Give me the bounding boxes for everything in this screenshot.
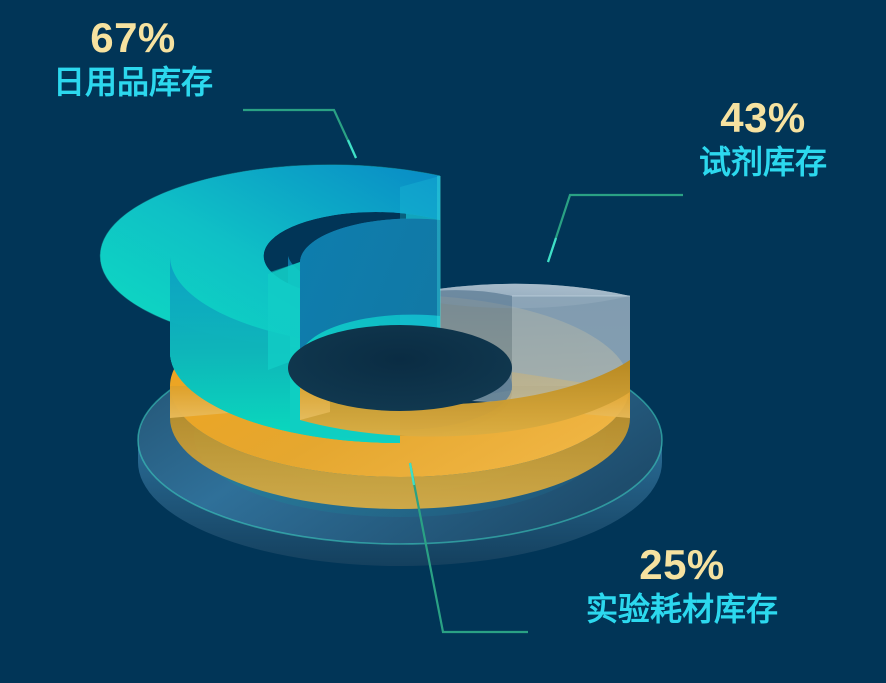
chart-canvas: 67% 日用品库存 43% 试剂库存 25% 实验耗材库存: [0, 0, 886, 683]
donut-hole: [288, 325, 512, 411]
label-percent: 43%: [640, 96, 886, 140]
leader-line-daily-supplies: [243, 110, 356, 158]
label-experiment-consumables[interactable]: 25% 实验耗材库存: [502, 543, 862, 627]
label-name: 日用品库存: [8, 66, 258, 100]
label-daily-supplies[interactable]: 67% 日用品库存: [8, 16, 258, 100]
leader-line-reagent: [548, 195, 683, 262]
label-reagent-stock[interactable]: 43% 试剂库存: [640, 96, 886, 180]
label-name: 试剂库存: [640, 146, 886, 180]
label-name: 实验耗材库存: [502, 593, 862, 627]
label-percent: 67%: [8, 16, 258, 60]
label-percent: 25%: [502, 543, 862, 587]
